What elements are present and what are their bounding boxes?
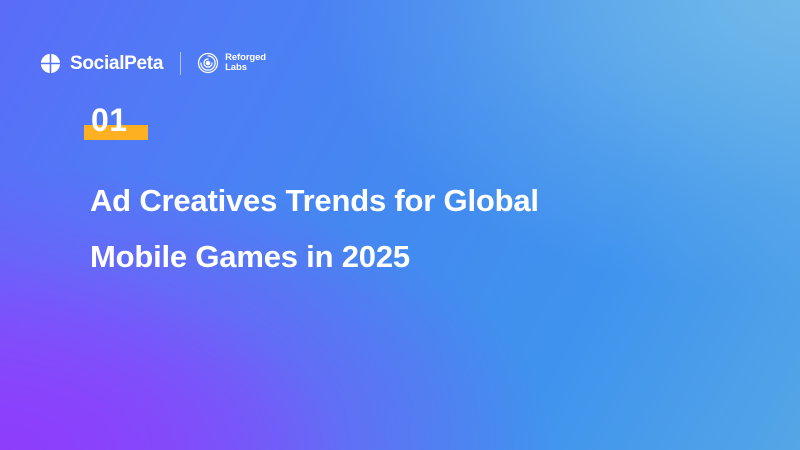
socialpeta-quadrant-circle-icon [40, 53, 61, 74]
page-title-line-1: Ad Creatives Trends for Global [90, 173, 690, 229]
reforged-labs-spiral-icon [197, 52, 219, 74]
reforged-labs-wordmark-line2: Labs [225, 63, 266, 74]
reforged-labs-logo[interactable]: Reforged Labs [197, 52, 266, 74]
page-title-line-2: Mobile Games in 2025 [90, 229, 690, 285]
brand-bar: SocialPeta Reforged Labs [40, 48, 266, 78]
title-slide: SocialPeta Reforged Labs 01 Ad Creatives… [0, 0, 800, 450]
socialpeta-logo[interactable]: SocialPeta [40, 53, 163, 74]
section-number-group: 01 [84, 104, 128, 136]
section-number: 01 [84, 104, 128, 136]
socialpeta-wordmark: SocialPeta [70, 54, 163, 73]
brand-divider [180, 52, 181, 75]
reforged-labs-wordmark: Reforged Labs [225, 53, 266, 74]
page-title: Ad Creatives Trends for Global Mobile Ga… [90, 173, 690, 285]
